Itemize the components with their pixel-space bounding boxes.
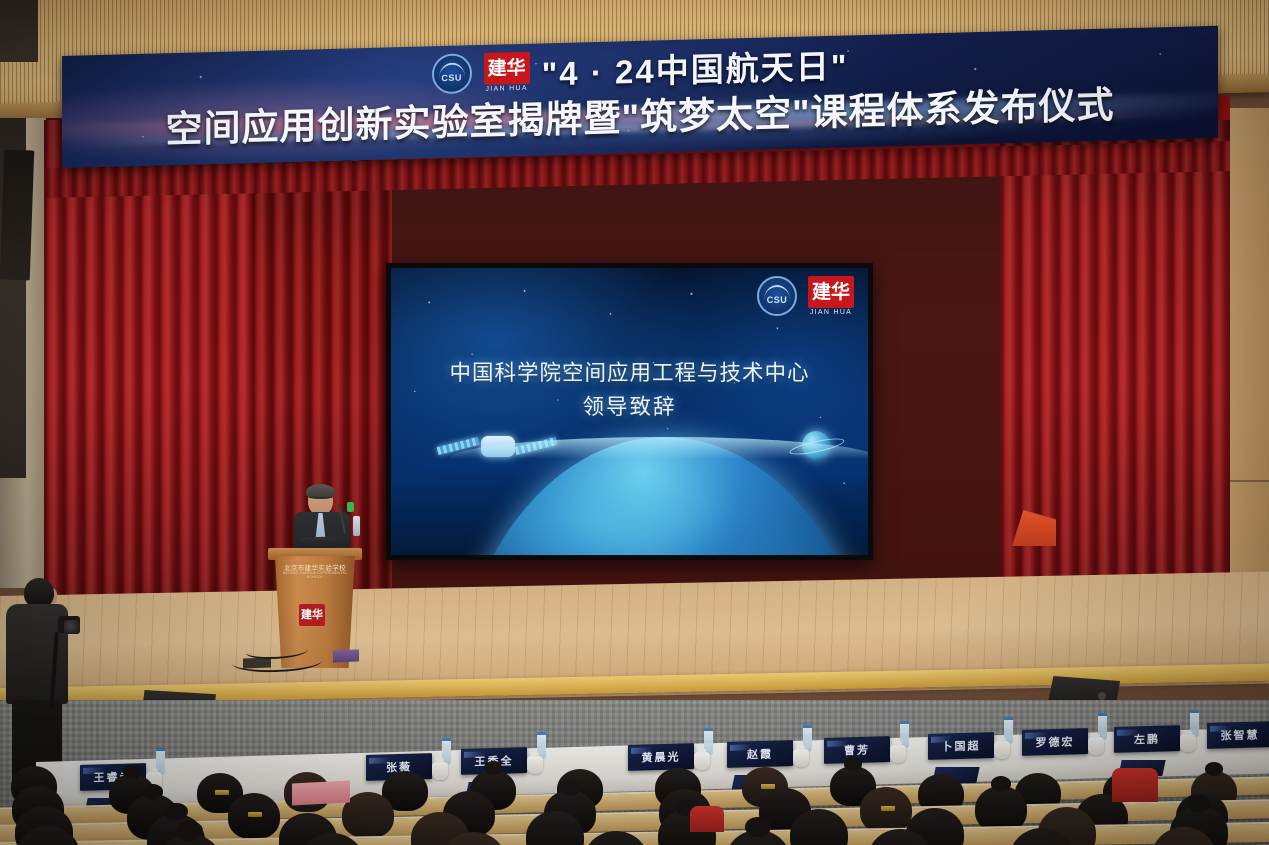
hair-clip-icon (881, 806, 895, 811)
led-logo-row: CSU 建华 JIAN HUA (757, 276, 854, 316)
led-csu-logo-text: CSU (767, 295, 788, 305)
podium-school-subtitle: BEIJING JIANHUA EXPERIMENTAL SCHOOL (275, 571, 355, 579)
led-screen-frame: CSU 建华 JIAN HUA 中国科学院空间应用工程与技术中心 领导致辞 (386, 263, 873, 560)
pink-notepad (292, 780, 350, 805)
podium-water-bottle-icon (353, 516, 360, 536)
audience-member-red-shirt-2 (690, 806, 724, 832)
hair-clip-icon (215, 790, 229, 795)
led-jianhua-seal-text: 建华 (808, 276, 854, 308)
name-placard: 赵霞 (727, 740, 793, 768)
csu-logo-icon: CSU (432, 53, 472, 94)
ceiling-dark-corner (0, 0, 38, 62)
name-placard: 罗德宏 (1022, 728, 1088, 756)
led-title-line1: 中国科学院空间应用工程与技术中心 (391, 356, 868, 387)
camera-lens-icon (64, 620, 80, 634)
led-csu-logo-icon: CSU (757, 276, 797, 316)
jianhua-logo-icon: 建华 JIAN HUA (484, 52, 530, 93)
teacup-icon (890, 745, 906, 763)
jianhua-seal-text: 建华 (484, 52, 530, 85)
led-title-line2: 领导致辞 (391, 390, 868, 421)
led-screen: CSU 建华 JIAN HUA 中国科学院空间应用工程与技术中心 领导致辞 (391, 268, 868, 555)
csu-logo-text: CSU (441, 72, 462, 83)
teacup-icon (432, 762, 448, 780)
teacup-icon (1088, 737, 1104, 755)
purple-stage-box (333, 649, 359, 662)
name-placard: 卜国超 (928, 732, 994, 760)
microphone-indicator-icon (347, 502, 354, 512)
glasses-icon (309, 497, 332, 503)
teacup-icon (1180, 734, 1196, 752)
auditorium-scene: CSU 建华 JIAN HUA "4 · 24中国航天日" 空间应用创新实验室揭… (0, 0, 1269, 845)
teacup-icon (994, 741, 1010, 759)
hanging-speaker-icon (0, 150, 34, 281)
led-jianhua-romaji-text: JIAN HUA (808, 309, 854, 316)
name-placard: 黄晨光 (628, 743, 694, 771)
teacup-icon (793, 749, 809, 767)
hair-clip-icon (761, 784, 775, 789)
teacup-icon (527, 756, 543, 774)
name-placard: 左鹏 (1114, 725, 1180, 753)
speaker-cone-icon (1098, 692, 1106, 700)
led-jianhua-logo-icon: 建华 JIAN HUA (808, 276, 854, 316)
hair-clip-icon (248, 812, 262, 817)
podium-seal-icon: 建华 (299, 604, 325, 626)
teacup-icon (694, 752, 710, 770)
name-placard: 张智慧 (1207, 721, 1269, 749)
audience-member-red-shirt (1112, 768, 1158, 802)
